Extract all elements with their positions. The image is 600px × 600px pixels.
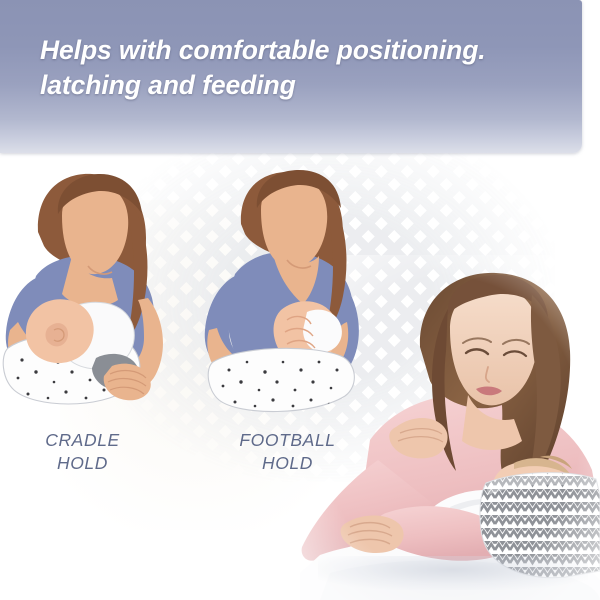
caption-football-line1: FOOTBALL: [239, 430, 335, 450]
photo-floor-shadow: [318, 556, 588, 590]
caption-football-hold: FOOTBALL HOLD: [195, 429, 380, 475]
caption-cradle-line2: HOLD: [0, 452, 165, 475]
caption-football-line2: HOLD: [195, 452, 380, 475]
caption-cradle-hold: CRADLE HOLD: [0, 429, 165, 475]
nursing-pillow: [208, 348, 354, 411]
headline-text: Helps with comfortable positioning. latc…: [40, 33, 560, 103]
product-feature-image: CRADLE HOLD: [0, 0, 600, 600]
headline-line-1: Helps with comfortable positioning.: [40, 33, 560, 68]
illustration-football-hold: [195, 170, 380, 430]
caption-cradle-line1: CRADLE: [45, 430, 120, 450]
headline-line-2: latching and feeding: [40, 68, 560, 103]
headline-banner: Helps with comfortable positioning. latc…: [0, 0, 582, 153]
illustration-cradle-hold: [0, 170, 180, 430]
